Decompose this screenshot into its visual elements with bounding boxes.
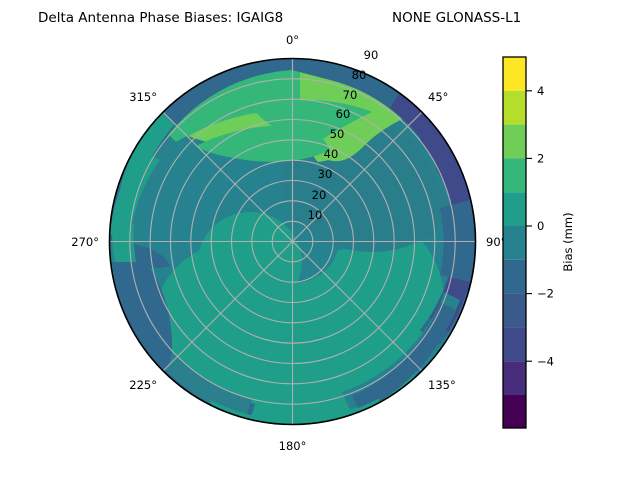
colorbar-band-6 <box>503 192 526 226</box>
colorbar-band-2 <box>503 327 526 361</box>
angular-tick-270: 270° <box>71 235 99 249</box>
radial-tick-70: 70 <box>343 88 358 102</box>
angular-tick-45: 45° <box>428 90 448 104</box>
radial-tick-80: 80 <box>352 68 367 82</box>
colorbar-band-1 <box>503 361 526 395</box>
colorbar-band-7 <box>503 158 526 192</box>
radial-tick-60: 60 <box>336 107 351 121</box>
angular-gridlines <box>110 59 476 425</box>
radial-tick-50: 50 <box>330 127 345 141</box>
colorbar-tick-neg2: −2 <box>537 287 554 301</box>
colorbar-tick-4: 4 <box>537 84 544 98</box>
page-title-secondary: NONE GLONASS-L1 <box>392 10 521 26</box>
colorbar-tick-2: 2 <box>537 152 544 166</box>
page-title: Delta Antenna Phase Biases: IGAIG8 <box>38 10 283 26</box>
radial-tick-40: 40 <box>324 147 339 161</box>
colorbar-tick-neg4: −4 <box>537 354 554 368</box>
colorbar-gradient <box>503 57 526 428</box>
colorbar-axis-label: Bias (mm) <box>561 212 575 271</box>
radial-tick-20: 20 <box>312 188 327 202</box>
colorbar-band-3 <box>503 294 526 328</box>
radial-tick-90: 90 <box>364 48 379 62</box>
colorbar-band-0 <box>503 395 526 428</box>
colorbar-tick-0: 0 <box>537 219 544 233</box>
colorbar-band-4 <box>503 260 526 294</box>
colorbar-band-10 <box>503 57 526 91</box>
angular-tick-180: 180° <box>279 439 307 453</box>
angular-tick-0: 0° <box>286 33 299 47</box>
angular-tick-315: 315° <box>129 90 157 104</box>
colorbar-band-5 <box>503 226 526 260</box>
angular-tick-135: 135° <box>428 378 456 392</box>
radial-tick-30: 30 <box>318 167 333 181</box>
radial-tick-10: 10 <box>308 208 323 222</box>
angular-tick-225: 225° <box>129 378 157 392</box>
colorbar-band-8 <box>503 125 526 159</box>
colorbar-band-9 <box>503 91 526 125</box>
polar-contour-figure: Delta Antenna Phase Biases: IGAIG8 NONE … <box>0 0 640 480</box>
